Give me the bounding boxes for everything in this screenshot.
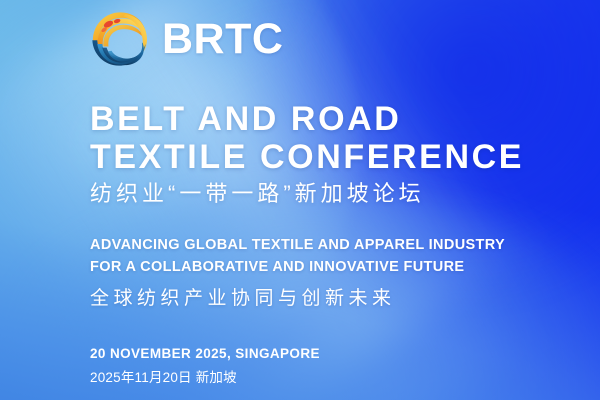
title-line-2: TEXTILE CONFERENCE — [90, 138, 524, 176]
tagline-line-1: ADVANCING GLOBAL TEXTILE AND APPAREL IND… — [90, 234, 505, 256]
brand-wordmark: BRTC — [162, 18, 283, 61]
conference-poster: BRTC BELT AND ROAD TEXTILE CONFERENCE 纺织… — [0, 0, 600, 400]
chinese-tagline: 全球纺织产业协同与创新未来 — [90, 286, 396, 312]
page-title: BELT AND ROAD TEXTILE CONFERENCE — [90, 100, 524, 176]
event-date-location-en: 20 NOVEMBER 2025, SINGAPORE — [90, 344, 320, 364]
event-date-location: 20 NOVEMBER 2025, SINGAPORE 2025年11月20日 … — [90, 344, 320, 388]
brand-lockup: BRTC — [88, 8, 283, 70]
chinese-forum-title: 纺织业“一带一路”新加坡论坛 — [90, 180, 425, 208]
poster-content: BRTC BELT AND ROAD TEXTILE CONFERENCE 纺织… — [0, 0, 600, 400]
tagline: ADVANCING GLOBAL TEXTILE AND APPAREL IND… — [90, 234, 505, 278]
brtc-circular-ribbon-logo-icon — [88, 8, 150, 70]
tagline-line-2: FOR A COLLABORATIVE AND INNOVATIVE FUTUR… — [90, 256, 505, 278]
event-date-location-cn: 2025年11月20日 新加坡 — [90, 368, 320, 388]
title-line-1: BELT AND ROAD — [90, 100, 524, 138]
